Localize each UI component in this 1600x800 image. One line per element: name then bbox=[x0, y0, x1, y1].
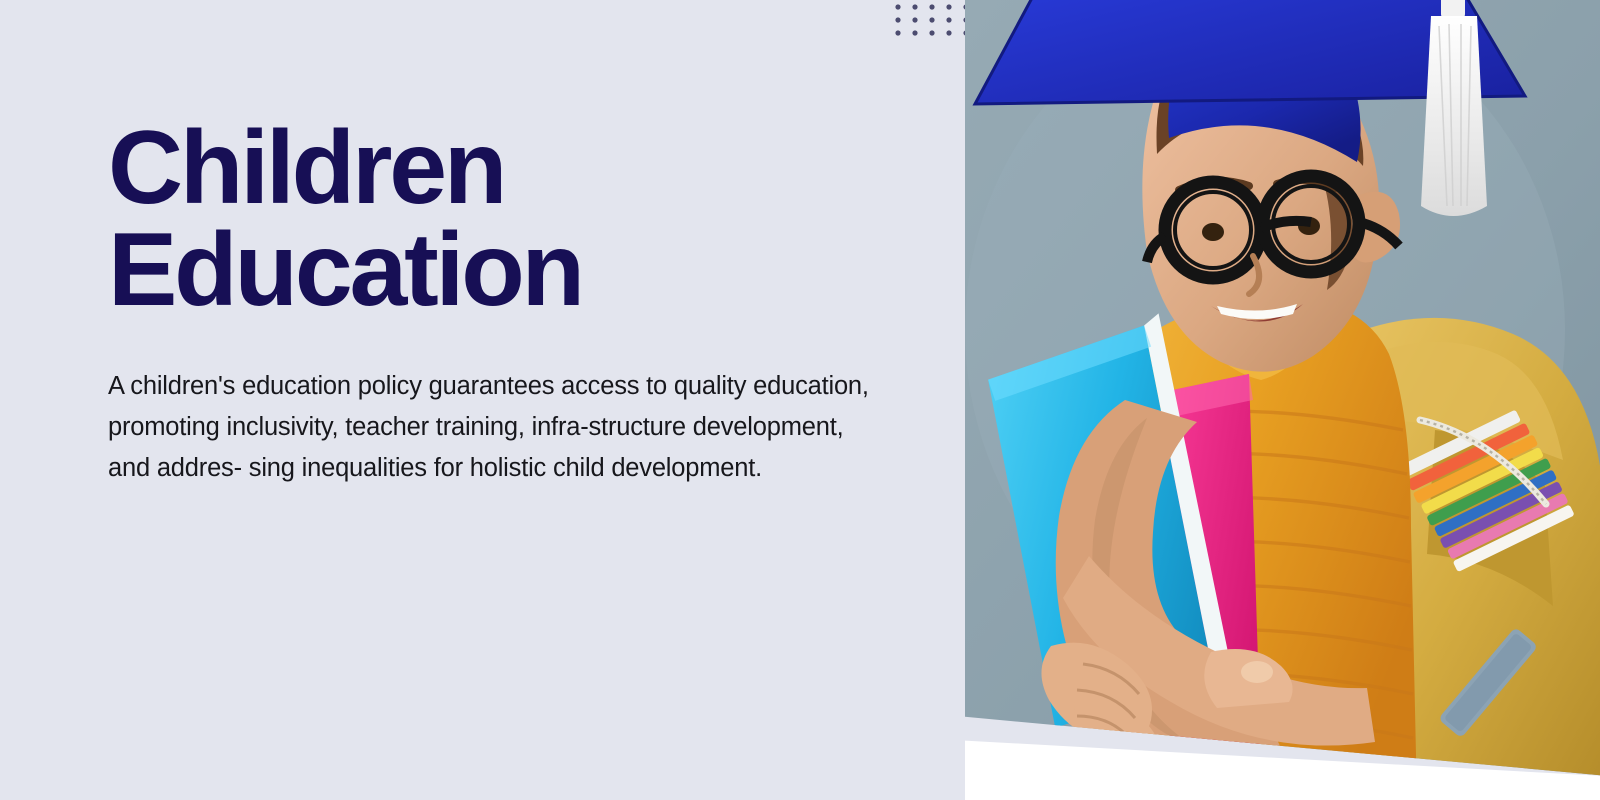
page-title: Children Education bbox=[108, 118, 898, 322]
tassel bbox=[1421, 0, 1487, 216]
hero-description: A children's education policy guarantees… bbox=[108, 322, 883, 489]
dot-grid-icon bbox=[893, 0, 977, 37]
student-photo bbox=[965, 0, 1600, 800]
hero-text-column: Children Education A children's educatio… bbox=[108, 118, 898, 489]
hero-banner: Children Education A children's educatio… bbox=[0, 0, 1600, 800]
